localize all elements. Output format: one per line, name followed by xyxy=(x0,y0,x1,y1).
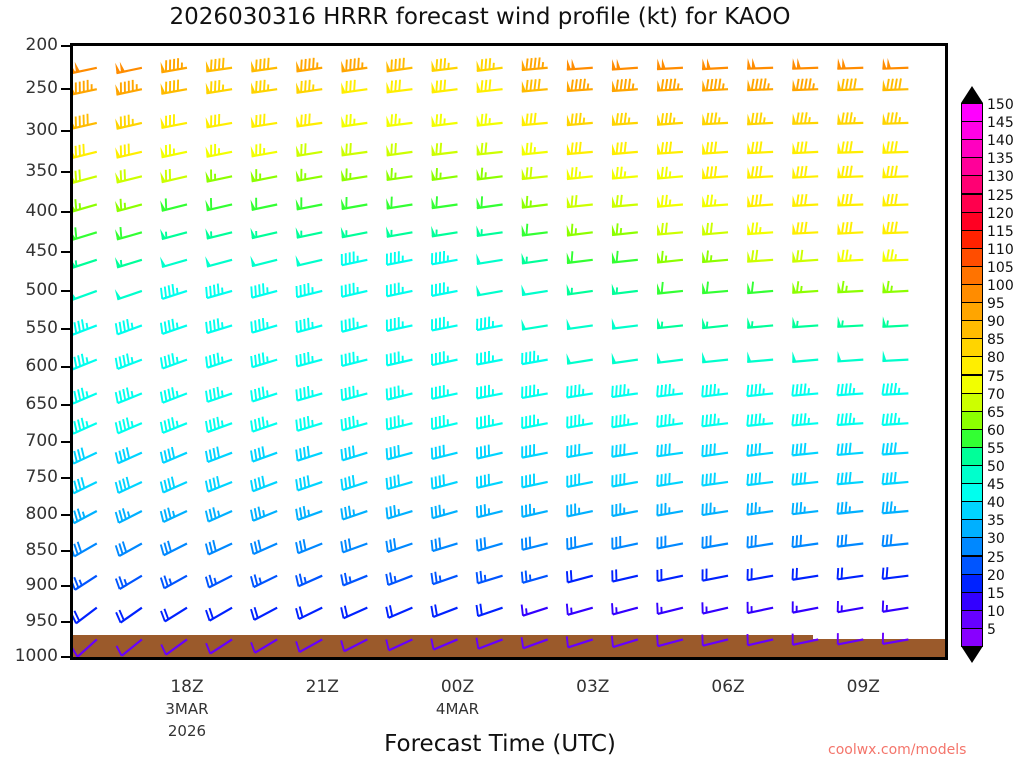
colorbar-label: 20 xyxy=(987,569,1005,583)
wind-barb xyxy=(837,222,863,234)
wind-barb xyxy=(477,168,503,180)
wind-barb xyxy=(792,78,818,90)
wind-barb xyxy=(386,80,412,93)
wind-barb xyxy=(386,114,412,126)
wind-barb xyxy=(612,444,638,457)
wind-barb xyxy=(837,383,863,395)
y-tick-label: 300 xyxy=(26,120,58,140)
wind-barb xyxy=(567,319,593,329)
wind-barb xyxy=(160,114,187,128)
wind-barb xyxy=(161,447,187,463)
wind-barb xyxy=(702,384,728,397)
x-axis-title: Forecast Time (UTC) xyxy=(150,731,850,757)
wind-barb xyxy=(206,639,232,653)
wind-barb xyxy=(160,229,187,239)
y-tick xyxy=(61,171,70,173)
wind-barb xyxy=(657,536,683,549)
wind-barb xyxy=(251,283,277,297)
wind-barb xyxy=(206,417,232,432)
wind-barb xyxy=(567,79,593,91)
wind-barb xyxy=(296,227,323,237)
wind-barb xyxy=(747,384,773,396)
wind-barb xyxy=(116,576,142,589)
colorbar-label: 145 xyxy=(987,116,1014,130)
wind-barb xyxy=(387,352,413,366)
wind-barb xyxy=(748,568,774,580)
y-tick-label: 600 xyxy=(26,356,58,376)
wind-barb xyxy=(477,385,503,399)
wind-barb xyxy=(882,443,908,455)
wind-barb xyxy=(657,569,683,581)
wind-barb xyxy=(73,258,97,268)
wind-barb xyxy=(251,318,277,333)
colorbar-label: 135 xyxy=(987,152,1014,166)
wind-barb xyxy=(206,575,232,588)
colorbar-cell xyxy=(961,537,983,556)
page-title: 2026030316 HRRR forecast wind profile (k… xyxy=(0,4,960,30)
wind-barb xyxy=(73,542,97,557)
wind-barb xyxy=(747,351,773,362)
wind-barb xyxy=(206,447,232,462)
wind-barb xyxy=(657,503,683,516)
colorbar-label: 30 xyxy=(987,532,1005,546)
wind-barb xyxy=(205,198,232,210)
wind-barb xyxy=(567,142,593,154)
y-tick xyxy=(61,404,70,406)
wind-barb xyxy=(477,58,503,71)
colorbar-label: 35 xyxy=(987,514,1005,528)
wind-barb xyxy=(476,638,502,649)
wind-barb xyxy=(387,317,413,331)
wind-barb xyxy=(341,168,367,180)
x-tick-label: 09Z xyxy=(847,677,880,697)
wind-barb xyxy=(296,58,322,72)
wind-barb xyxy=(612,79,638,91)
y-tick-label: 800 xyxy=(26,504,58,524)
y-tick xyxy=(61,290,70,292)
wind-barb xyxy=(702,414,728,427)
wind-barb xyxy=(73,290,97,300)
wind-barb xyxy=(882,249,908,260)
wind-barb xyxy=(477,415,503,429)
wind-barb xyxy=(612,536,638,549)
wind-barb xyxy=(882,316,908,326)
wind-barb xyxy=(296,80,322,93)
wind-barb xyxy=(431,143,457,155)
colorbar-label: 25 xyxy=(987,551,1005,565)
wind-barb xyxy=(341,573,367,586)
colorbar-label: 95 xyxy=(987,297,1005,311)
wind-barb xyxy=(160,198,187,210)
colorbar-cell xyxy=(961,501,983,520)
wind-barb xyxy=(522,79,548,92)
wind-barb xyxy=(882,194,908,206)
y-tick xyxy=(61,328,70,330)
wind-barb xyxy=(161,639,187,654)
x-tick-label: 21Z xyxy=(306,677,339,697)
wind-barb xyxy=(386,58,412,72)
wind-barb xyxy=(882,350,908,360)
wind-barb xyxy=(882,112,908,124)
colorbar-cell xyxy=(961,393,983,412)
colorbar-label: 150 xyxy=(987,98,1014,112)
wind-barb xyxy=(882,383,908,395)
wind-barb xyxy=(205,228,232,238)
colorbar-cell xyxy=(961,230,983,249)
colorbar-label: 90 xyxy=(987,315,1005,329)
wind-barb xyxy=(161,387,187,402)
colorbar-cell xyxy=(961,157,983,176)
wind-barb xyxy=(476,253,502,263)
colorbar-cell xyxy=(961,284,983,303)
wind-barb xyxy=(431,168,457,180)
wind-barb xyxy=(567,113,593,125)
wind-barb xyxy=(522,444,548,458)
wind-barb xyxy=(792,351,818,362)
wind-barb xyxy=(702,251,728,263)
wind-barb xyxy=(702,223,728,235)
wind-barb xyxy=(251,387,277,402)
wind-barb xyxy=(657,603,683,614)
wind-barb xyxy=(747,413,773,425)
wind-barb xyxy=(837,166,863,178)
wind-barb xyxy=(73,227,97,240)
y-tick-label: 400 xyxy=(26,201,58,221)
wind-barb xyxy=(657,282,683,294)
wind-barb xyxy=(793,568,819,580)
wind-barb xyxy=(837,413,863,425)
wind-barb xyxy=(251,607,277,620)
wind-barb xyxy=(73,608,97,624)
wind-barb xyxy=(432,385,458,399)
y-tick-label: 1000 xyxy=(15,646,58,666)
wind-barb xyxy=(612,167,638,179)
wind-barb xyxy=(251,476,277,491)
wind-barb xyxy=(748,602,774,613)
wind-barb xyxy=(161,319,187,334)
wind-barb xyxy=(522,113,548,125)
wind-barb xyxy=(477,571,503,583)
wind-barb xyxy=(115,199,142,211)
wind-barb xyxy=(73,477,97,493)
colorbar-cell xyxy=(961,574,983,593)
wind-barb xyxy=(73,170,97,183)
wind-barb xyxy=(341,475,367,490)
colorbar-cell xyxy=(961,375,983,394)
wind-barb xyxy=(341,197,367,209)
wind-barb xyxy=(657,113,683,125)
y-tick-label: 850 xyxy=(26,540,58,560)
wind-barb xyxy=(206,284,232,299)
wind-barb xyxy=(296,318,322,332)
wind-barb xyxy=(477,317,503,330)
wind-barb xyxy=(657,142,683,154)
wind-barb xyxy=(702,318,728,329)
wind-barb xyxy=(702,113,728,125)
wind-barb xyxy=(250,256,277,266)
y-tick xyxy=(61,585,70,587)
y-tick xyxy=(61,45,70,47)
colorbar-label: 10 xyxy=(987,605,1005,619)
wind-barb xyxy=(747,194,773,206)
wind-barb xyxy=(206,540,232,554)
wind-barb xyxy=(387,415,413,429)
wind-barb xyxy=(432,282,458,296)
wind-barb xyxy=(702,79,728,91)
colorbar-top-arrow xyxy=(961,86,983,103)
wind-barb xyxy=(702,195,728,207)
wind-barb xyxy=(161,508,187,522)
wind-barb xyxy=(431,639,457,650)
wind-barb xyxy=(657,635,683,646)
wind-barb xyxy=(160,257,187,267)
wind-barb xyxy=(296,539,322,553)
wind-barb xyxy=(115,115,142,129)
wind-barb xyxy=(702,352,728,363)
wind-barb xyxy=(251,639,277,652)
wind-barb xyxy=(612,569,638,581)
wind-barb xyxy=(432,351,458,365)
colorbar-label: 15 xyxy=(987,587,1005,601)
wind-barb xyxy=(160,144,187,157)
wind-barb xyxy=(432,415,458,429)
colorbar-cell xyxy=(961,194,983,213)
wind-barb xyxy=(296,506,322,520)
y-tick-label: 500 xyxy=(26,280,58,300)
x-tick-label: 18Z xyxy=(170,677,203,697)
wind-barb xyxy=(567,414,593,427)
colorbar-cell xyxy=(961,411,983,430)
wind-barb xyxy=(431,226,457,236)
colorbar-label: 60 xyxy=(987,424,1005,438)
y-tick xyxy=(61,550,70,552)
wind-barb xyxy=(747,141,773,153)
wind-barb xyxy=(792,58,818,69)
wind-barb xyxy=(657,58,683,69)
wind-barb xyxy=(116,608,142,623)
wind-barb xyxy=(161,58,187,72)
wind-barb xyxy=(522,415,548,429)
wind-barb xyxy=(882,413,908,425)
wind-barb xyxy=(792,443,818,455)
y-tick-label: 450 xyxy=(26,241,58,261)
wind-barb xyxy=(386,197,412,209)
wind-barb xyxy=(702,443,728,456)
wind-barb xyxy=(387,475,413,490)
wind-barb xyxy=(477,351,503,365)
wind-barb xyxy=(115,144,142,158)
wind-barb xyxy=(837,194,863,206)
y-tick-label: 700 xyxy=(26,431,58,451)
wind-barb xyxy=(747,317,773,328)
colorbar-cell xyxy=(961,139,983,158)
wind-barb xyxy=(160,169,187,182)
wind-barb xyxy=(567,167,593,179)
colorbar-label: 115 xyxy=(987,225,1014,239)
colorbar-label: 105 xyxy=(987,261,1014,275)
y-tick xyxy=(61,514,70,516)
wind-barb xyxy=(476,225,502,235)
wind-barb xyxy=(341,114,367,126)
wind-barb xyxy=(161,353,187,368)
wind-barb xyxy=(73,509,97,524)
wind-barb xyxy=(522,351,548,364)
wind-barb xyxy=(342,318,368,332)
wind-barb xyxy=(793,601,819,612)
colorbar-cell xyxy=(961,556,983,575)
wind-barb xyxy=(567,384,593,397)
wind-barb xyxy=(837,250,863,262)
wind-barb xyxy=(747,113,773,125)
wind-barb xyxy=(116,477,142,493)
colorbar-cell xyxy=(961,356,983,375)
colorbar-label: 5 xyxy=(987,623,996,637)
wind-barb xyxy=(206,387,232,402)
wind-barb xyxy=(702,473,728,486)
wind-barb xyxy=(387,445,413,459)
wind-barb xyxy=(612,636,638,647)
colorbar-label: 130 xyxy=(987,170,1014,184)
colorbar-label: 75 xyxy=(987,370,1005,384)
wind-barb xyxy=(522,605,548,616)
wind-barb xyxy=(161,417,187,433)
wind-barb xyxy=(612,473,638,486)
wind-barb xyxy=(522,224,548,236)
wind-barb xyxy=(206,144,233,157)
wind-barb xyxy=(116,319,142,334)
wind-barb xyxy=(522,571,548,583)
wind-barb xyxy=(73,354,97,370)
wind-barb xyxy=(792,413,818,425)
wind-barb xyxy=(657,473,683,486)
wind-barb xyxy=(793,634,819,645)
wind-barb xyxy=(116,388,142,404)
colorbar-label: 120 xyxy=(987,207,1014,221)
wind-barb xyxy=(657,318,683,329)
y-tick-label: 350 xyxy=(26,161,58,181)
colorbar-label: 70 xyxy=(987,388,1005,402)
wind-barb xyxy=(296,352,322,366)
wind-barb xyxy=(612,318,638,328)
colorbar-label: 80 xyxy=(987,351,1005,365)
wind-barb xyxy=(747,634,773,645)
wind-barb xyxy=(115,257,142,267)
wind-barb xyxy=(206,318,232,333)
wind-barb xyxy=(612,384,638,397)
wind-barb xyxy=(73,114,97,129)
colorbar-cell xyxy=(961,248,983,267)
colorbar-cell xyxy=(961,628,983,647)
wind-barb xyxy=(567,444,593,457)
colorbar-label: 100 xyxy=(987,279,1014,293)
wind-barb xyxy=(612,414,638,427)
wind-barb xyxy=(792,535,818,547)
y-tick xyxy=(61,621,70,623)
y-tick-label: 950 xyxy=(26,611,58,631)
wind-barb xyxy=(522,504,548,517)
wind-barb xyxy=(341,506,367,520)
wind-barb xyxy=(206,507,232,521)
wind-barb xyxy=(296,416,322,431)
wind-barb xyxy=(251,353,277,368)
wind-barb xyxy=(838,633,864,644)
wind-barb xyxy=(116,354,142,369)
y-tick-label: 900 xyxy=(26,575,58,595)
wind-barb xyxy=(792,112,818,124)
wind-barb xyxy=(837,534,863,546)
wind-barb xyxy=(522,637,548,648)
wind-barb xyxy=(115,227,142,239)
y-tick-label: 200 xyxy=(26,35,58,55)
wind-barb xyxy=(747,535,773,547)
wind-barb xyxy=(837,502,863,514)
wind-barb xyxy=(73,62,97,73)
wind-barb xyxy=(882,58,908,69)
wind-barb xyxy=(837,58,863,69)
wind-barb xyxy=(341,143,367,155)
wind-barb xyxy=(161,284,187,299)
wind-barb xyxy=(567,636,593,647)
wind-barb xyxy=(522,142,548,154)
y-tick xyxy=(61,251,70,253)
wind-barb xyxy=(73,319,97,334)
wind-barb xyxy=(206,80,232,93)
wind-barb xyxy=(386,143,412,155)
wind-barb xyxy=(296,446,322,461)
wind-barb xyxy=(73,388,97,404)
wind-barb xyxy=(161,576,187,589)
colorbar-label: 55 xyxy=(987,442,1005,456)
wind-barb xyxy=(792,166,818,178)
wind-barb xyxy=(882,222,908,234)
wind-barb xyxy=(116,541,142,556)
wind-barb xyxy=(792,317,818,328)
wind-barb xyxy=(747,250,773,262)
wind-barb xyxy=(838,568,864,580)
wind-barb xyxy=(837,281,863,292)
wind-barb xyxy=(882,501,908,513)
colorbar-cell xyxy=(961,610,983,629)
wind-barb xyxy=(341,227,368,237)
wind-barb xyxy=(251,540,277,554)
wind-barb xyxy=(251,169,278,181)
wind-barb xyxy=(432,317,458,331)
wind-barb xyxy=(296,255,323,265)
wind-barb xyxy=(341,58,367,72)
wind-barb xyxy=(837,443,863,455)
wind-barb xyxy=(386,573,412,586)
wind-barb xyxy=(521,253,547,263)
wind-barb xyxy=(251,144,277,157)
wind-barb xyxy=(522,385,548,398)
wind-barb xyxy=(747,166,773,178)
colorbar-cell xyxy=(961,320,983,339)
wind-barb xyxy=(567,473,593,487)
wind-barb xyxy=(477,504,503,517)
wind-barb xyxy=(431,80,457,93)
wind-barb xyxy=(296,574,322,587)
watermark: coolwx.com/models xyxy=(828,742,966,758)
wind-barb xyxy=(567,195,593,207)
wind-barb xyxy=(837,78,863,90)
wind-barb xyxy=(702,142,728,154)
y-tick-label: 750 xyxy=(26,467,58,487)
colorbar-cell xyxy=(961,483,983,502)
wind-barb xyxy=(657,352,683,363)
colorbar-label: 85 xyxy=(987,333,1005,347)
x-tick-label: 00Z xyxy=(441,677,474,697)
wind-barb xyxy=(431,572,457,584)
